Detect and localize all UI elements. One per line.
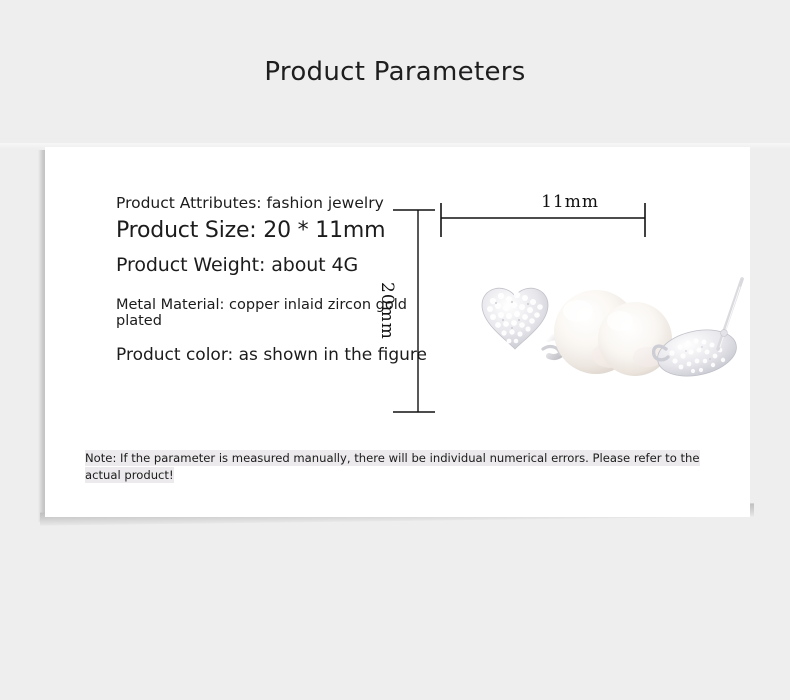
spec-metal-material: Metal Material: copper inlaid zircon gol… [116,297,446,331]
earrings-illustration [460,257,750,432]
earring-right [598,279,742,383]
spec-product-color: Product color: as shown in the figure [116,346,446,366]
product-photo [460,257,750,432]
card-surface: Product Attributes: fashion jewelry Prod… [45,147,750,517]
width-dimension-label: 11mm [510,192,630,212]
note-disclaimer: Note: If the parameter is measured manua… [85,450,700,484]
pearl-right-highlight [607,311,633,331]
page-title: Product Parameters [0,57,790,87]
parameters-card: Product Attributes: fashion jewelry Prod… [38,140,753,535]
spec-product-weight: Product Weight: about 4G [116,254,446,276]
spec-product-attributes: Product Attributes: fashion jewelry [116,195,446,213]
pearl-left-highlight [563,300,593,322]
post-notch [721,330,728,337]
spec-product-size: Product Size: 20 * 11mm [116,218,446,244]
spec-list: Product Attributes: fashion jewelry Prod… [116,195,446,366]
note-text: Note: If the parameter is measured manua… [85,450,700,483]
